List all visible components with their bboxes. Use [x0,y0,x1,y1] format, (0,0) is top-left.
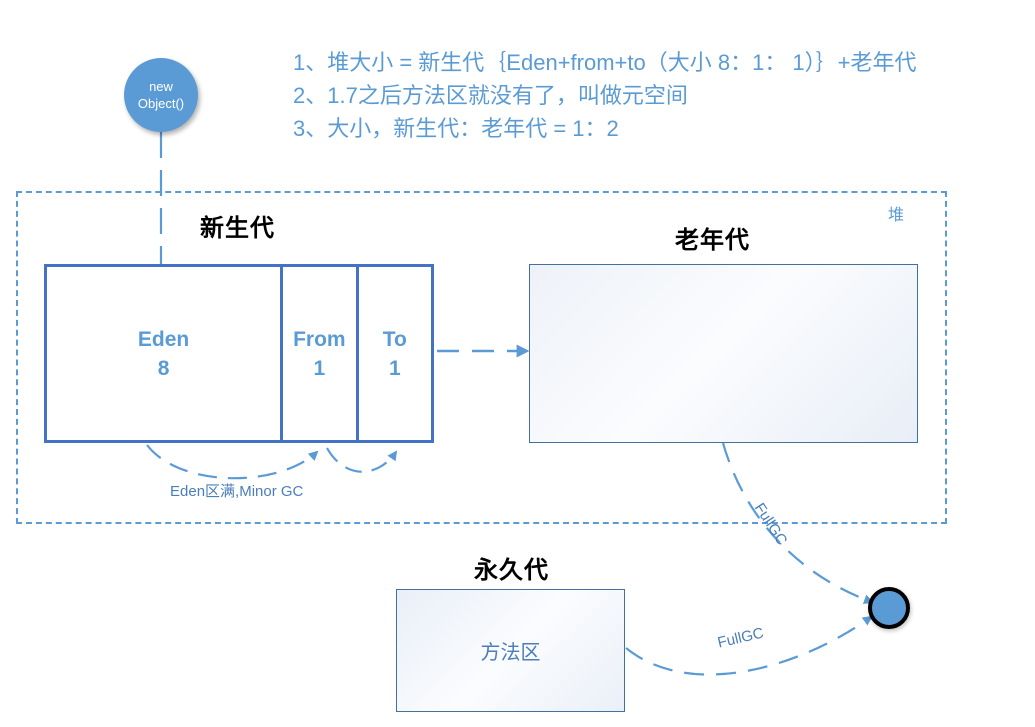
new-object-line1: new [149,78,173,95]
note-line-1: 1、堆大小 = 新生代｛Eden+from+to（大小 8：1： 1）｝+老年代 [293,46,993,79]
heap-label: 堆 [888,201,904,225]
note-line-3: 3、大小，新生代：老年代 = 1：2 [293,112,993,145]
old-generation-heading: 老年代 [675,220,750,255]
diagram-canvas: new Object() 1、堆大小 = 新生代｛Eden+from+to（大小… [0,0,1035,727]
survivor-from-region[interactable]: From 1 [283,267,358,440]
eden-size: 8 [158,354,170,383]
to-label: To [383,325,407,354]
permanent-generation-heading: 永久代 [474,550,549,585]
new-object-line2: Object() [138,95,184,112]
minor-gc-label: Eden区满,Minor GC [170,480,303,501]
from-size: 1 [314,354,326,383]
notes-block: 1、堆大小 = 新生代｛Eden+from+to（大小 8：1： 1）｝+老年代… [293,46,993,145]
new-object-node[interactable]: new Object() [124,58,198,132]
eden-region[interactable]: Eden 8 [47,267,283,440]
eden-label: Eden [138,325,189,354]
connector-method-area-fullgc [626,617,871,675]
method-area-label: 方法区 [481,636,541,665]
method-area-box[interactable]: 方法区 [396,589,625,712]
young-generation-box: Eden 8 From 1 To 1 [44,264,434,443]
survivor-to-region[interactable]: To 1 [359,267,431,440]
note-line-2: 2、1.7之后方法区就没有了，叫做元空间 [293,79,993,112]
gc-object-circle[interactable] [868,587,910,629]
to-size: 1 [389,354,401,383]
young-generation-heading: 新生代 [200,208,275,243]
old-generation-box[interactable] [529,264,918,443]
fullgc-perm-label: FullGC [716,625,765,652]
from-label: From [293,325,346,354]
